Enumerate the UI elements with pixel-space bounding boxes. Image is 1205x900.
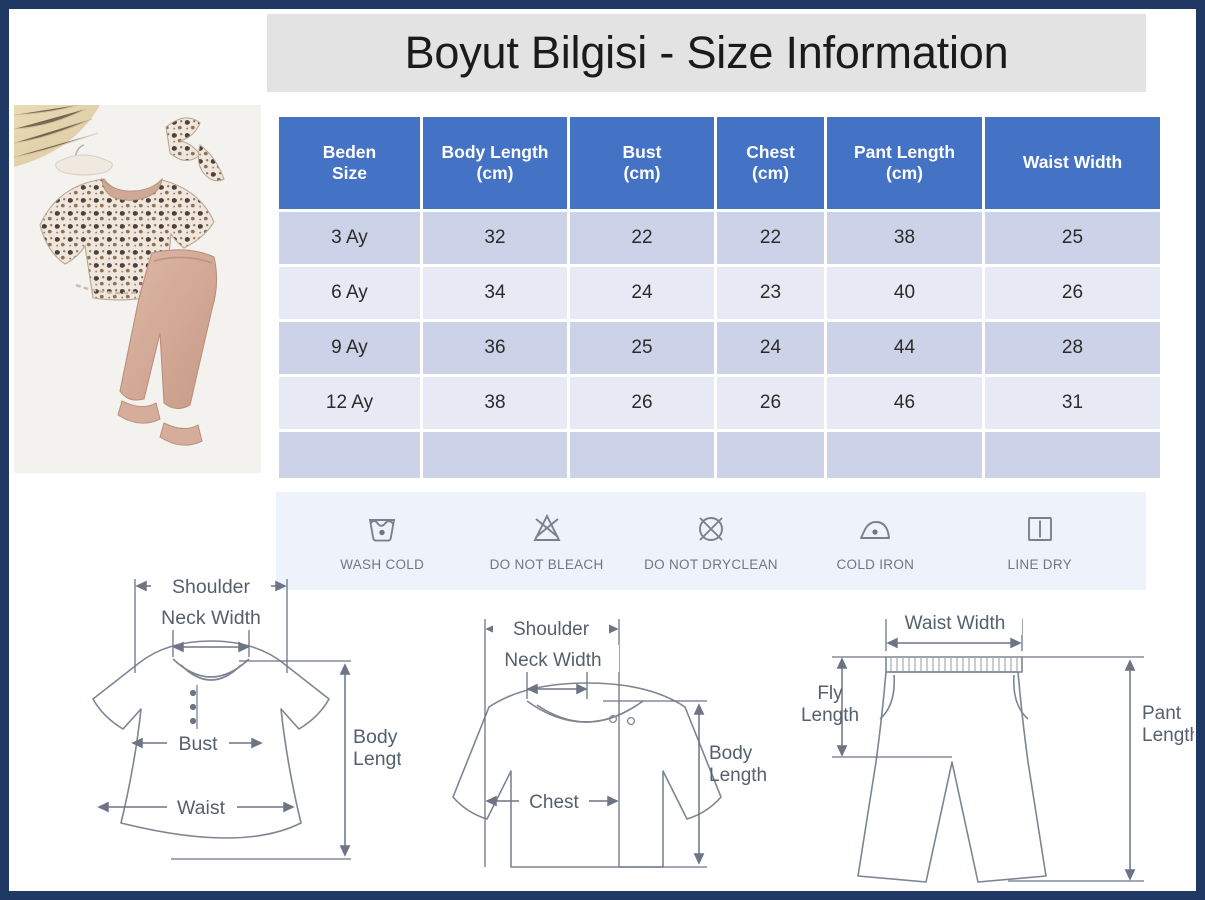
care-label: DO NOT DRYCLEAN [644,557,778,572]
table-row: 9 Ay 36 25 24 44 28 [279,322,1160,374]
label-fly-length-line1: Fly [817,683,843,704]
table-row: 3 Ay 32 22 22 38 25 [279,212,1160,264]
cell-body-length: 38 [423,377,567,429]
title-bar: Boyut Bilgisi - Size Information [267,14,1146,92]
header-line-2: (cm) [752,163,789,183]
line-dry-icon [1020,510,1060,548]
cell-waist-width: 31 [985,377,1160,429]
do-not-dryclean-icon [691,510,731,548]
care-instructions-strip: WASH COLD DO NOT BLEACH DO NOT DRYCL [276,492,1146,590]
care-label: LINE DRY [1008,557,1072,572]
table-header-row: Beden Size Body Length (cm) Bust (cm) Ch… [279,117,1160,209]
label-neck-width: Neck Width [161,607,261,629]
table-row: 12 Ay 38 26 26 46 31 [279,377,1160,429]
label-shoulder: Shoulder [172,576,251,598]
care-label: COLD IRON [837,557,915,572]
cell-chest: 26 [717,377,824,429]
header-line-2: (cm) [624,163,661,183]
wash-cold-icon [362,510,402,548]
column-header-size: Beden Size [279,117,420,209]
table-row: 6 Ay 34 24 23 40 26 [279,267,1160,319]
cold-iron-icon [855,510,895,548]
cell-size: 6 Ay [279,267,420,319]
label-waist-width: Waist Width [905,613,1006,634]
cell-bust: 25 [570,322,714,374]
cell-chest: 23 [717,267,824,319]
column-header-chest: Chest (cm) [717,117,824,209]
column-header-pant-length: Pant Length (cm) [827,117,982,209]
header-line-2: (cm) [886,163,923,183]
cell-bust [570,432,714,478]
header-line-1: Bust [623,142,662,162]
cell-body-length [423,432,567,478]
pants-measurement-diagram: Waist Width Fly Length Pant Length [794,599,1194,897]
cell-pant-length [827,432,982,478]
label-fly-length-line2: Length [801,705,859,726]
header-line-1: Pant Length [854,142,955,162]
care-item-wash-cold: WASH COLD [307,510,457,572]
header-line-2: (cm) [477,163,514,183]
care-label: DO NOT BLEACH [490,557,604,572]
care-item-do-not-bleach: DO NOT BLEACH [472,510,622,572]
cell-bust: 26 [570,377,714,429]
care-item-cold-iron: COLD IRON [800,510,950,572]
care-item-line-dry: LINE DRY [965,510,1115,572]
dress-measurement-diagram: Shoulder Neck Width Bust Waist Body Leng… [21,565,401,897]
size-chart-page: Boyut Bilgisi - Size Information [0,0,1205,900]
header-line-1: Waist Width [1023,152,1122,172]
do-not-bleach-icon [527,510,567,548]
label-waist: Waist [177,797,226,819]
cell-size: 3 Ay [279,212,420,264]
column-header-body-length: Body Length (cm) [423,117,567,209]
cell-size: 12 Ay [279,377,420,429]
cell-body-length: 36 [423,322,567,374]
header-line-2: Size [332,163,367,183]
column-header-bust: Bust (cm) [570,117,714,209]
care-item-do-not-dryclean: DO NOT DRYCLEAN [636,510,786,572]
size-table: Beden Size Body Length (cm) Bust (cm) Ch… [276,114,1163,481]
label-body-length-line1: Body [709,743,753,764]
cell-chest: 24 [717,322,824,374]
cell-chest [717,432,824,478]
cell-bust: 22 [570,212,714,264]
cell-size: 9 Ay [279,322,420,374]
cell-size [279,432,420,478]
table-row-empty [279,432,1160,478]
cell-bust: 24 [570,267,714,319]
header-line-1: Body Length [442,142,549,162]
cell-pant-length: 40 [827,267,982,319]
label-body-length-line2: Length [353,748,401,770]
cell-pant-length: 46 [827,377,982,429]
label-bust: Bust [178,733,218,755]
cell-chest: 22 [717,212,824,264]
cell-waist-width: 25 [985,212,1160,264]
label-chest: Chest [529,792,579,813]
cell-waist-width [985,432,1160,478]
cell-body-length: 34 [423,267,567,319]
cell-waist-width: 26 [985,267,1160,319]
cell-waist-width: 28 [985,322,1160,374]
label-body-length-line1: Body [353,726,398,748]
page-title: Boyut Bilgisi - Size Information [405,27,1009,79]
cell-body-length: 32 [423,212,567,264]
label-shoulder: Shoulder [513,619,590,640]
column-header-waist-width: Waist Width [985,117,1160,209]
shirt-measurement-diagram: Shoulder Neck Width Chest Body Length [397,601,777,897]
product-photo-leopard-baby-outfit [14,105,261,473]
label-pant-length-line2: Length [1142,725,1194,746]
label-pant-length-line1: Pant [1142,703,1182,724]
label-neck-width: Neck Width [504,650,601,671]
header-line-1: Beden [323,142,376,162]
cell-pant-length: 38 [827,212,982,264]
cell-pant-length: 44 [827,322,982,374]
label-body-length-line2: Length [709,765,767,786]
header-line-1: Chest [746,142,795,162]
